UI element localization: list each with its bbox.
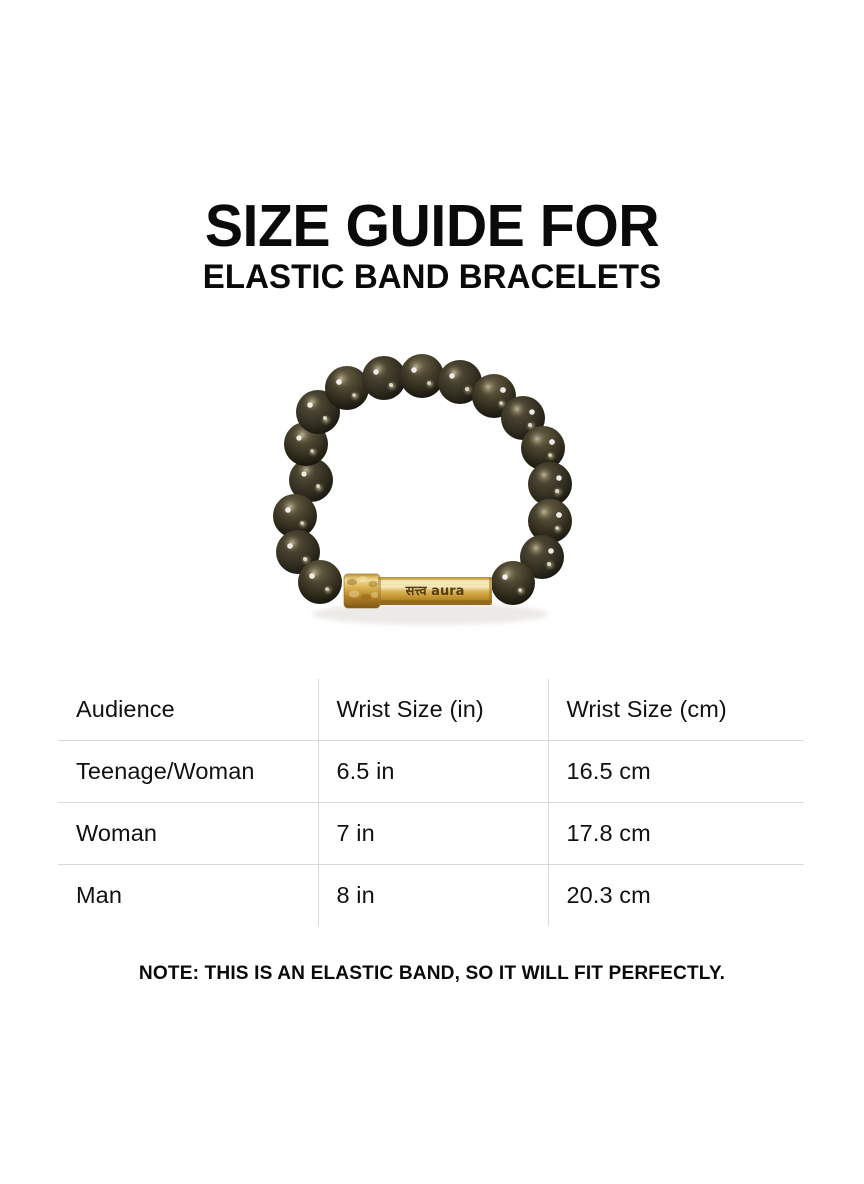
title-line-primary: SIZE GUIDE FOR bbox=[13, 196, 851, 256]
page-title: SIZE GUIDE FOR ELASTIC BAND BRACELETS bbox=[0, 196, 864, 297]
cell-audience: Man bbox=[58, 865, 318, 927]
column-header-wrist-size-cm: Wrist Size (cm) bbox=[548, 679, 804, 741]
cell-wrist-cm: 17.8 cm bbox=[548, 803, 804, 865]
title-line-secondary: ELASTIC BAND BRACELETS bbox=[13, 257, 851, 297]
cell-wrist-cm: 16.5 cm bbox=[548, 741, 804, 803]
cell-wrist-in: 6.5 in bbox=[318, 741, 548, 803]
cell-audience: Teenage/Woman bbox=[58, 741, 318, 803]
table-row: Woman 7 in 17.8 cm bbox=[58, 803, 804, 865]
size-guide-table: Audience Wrist Size (in) Wrist Size (cm)… bbox=[58, 679, 804, 926]
bracelet-illustration: सत्त्व aura bbox=[262, 352, 598, 638]
cell-wrist-cm: 20.3 cm bbox=[548, 865, 804, 927]
cell-wrist-in: 7 in bbox=[318, 803, 548, 865]
column-header-audience: Audience bbox=[58, 679, 318, 741]
charm-engraving: सत्त्व aura bbox=[405, 584, 465, 599]
cell-wrist-in: 8 in bbox=[318, 865, 548, 927]
cell-audience: Woman bbox=[58, 803, 318, 865]
column-header-wrist-size-in: Wrist Size (in) bbox=[318, 679, 548, 741]
gold-charm: सत्त्व aura bbox=[344, 574, 492, 608]
product-photo-bracelet: सत्त्व aura bbox=[262, 352, 598, 638]
elastic-band-note: NOTE: THIS IS AN ELASTIC BAND, SO IT WIL… bbox=[9, 962, 856, 985]
table-row: Teenage/Woman 6.5 in 16.5 cm bbox=[58, 741, 804, 803]
table-header-row: Audience Wrist Size (in) Wrist Size (cm) bbox=[58, 679, 804, 741]
table-row: Man 8 in 20.3 cm bbox=[58, 865, 804, 927]
